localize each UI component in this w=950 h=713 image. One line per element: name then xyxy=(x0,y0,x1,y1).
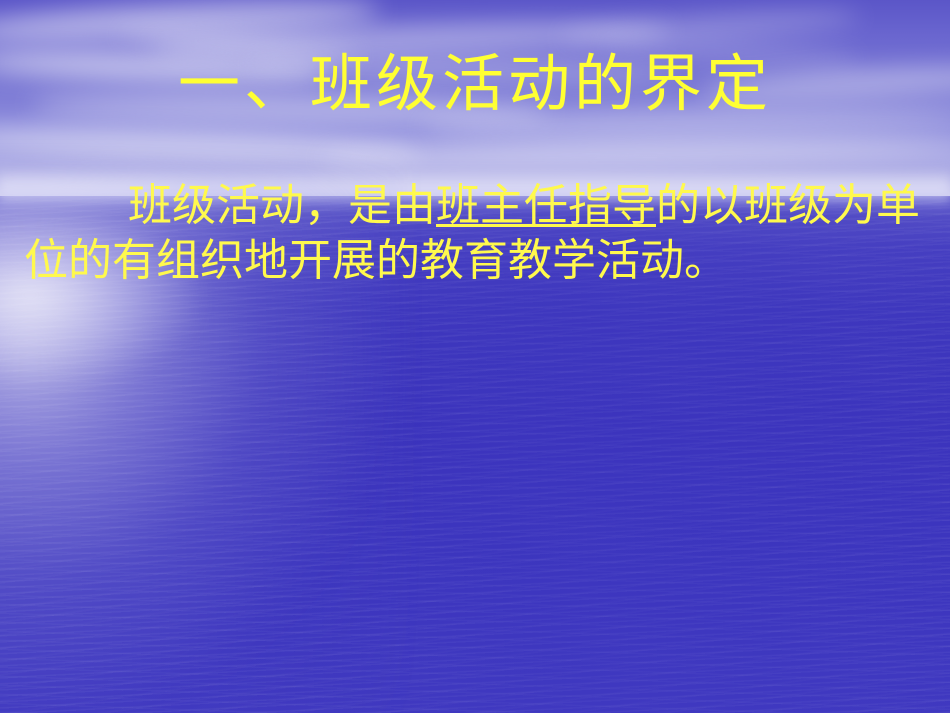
slide-body: 班级活动，是由班主任指导的以班级为单位的有组织地开展的教育教学活动。 xyxy=(24,178,924,288)
body-text-lead: 班级活动，是由 xyxy=(128,180,436,231)
body-paragraph: 班级活动，是由班主任指导的以班级为单位的有组织地开展的教育教学活动。 xyxy=(24,178,924,288)
slide-content: 一、班级活动的界定 班级活动，是由班主任指导的以班级为单位的有组织地开展的教育教… xyxy=(0,0,950,713)
presentation-slide: 一、班级活动的界定 班级活动，是由班主任指导的以班级为单位的有组织地开展的教育教… xyxy=(0,0,950,713)
body-text-emphasis: 班主任指导 xyxy=(436,180,656,231)
slide-title: 一、班级活动的界定 xyxy=(0,47,950,121)
